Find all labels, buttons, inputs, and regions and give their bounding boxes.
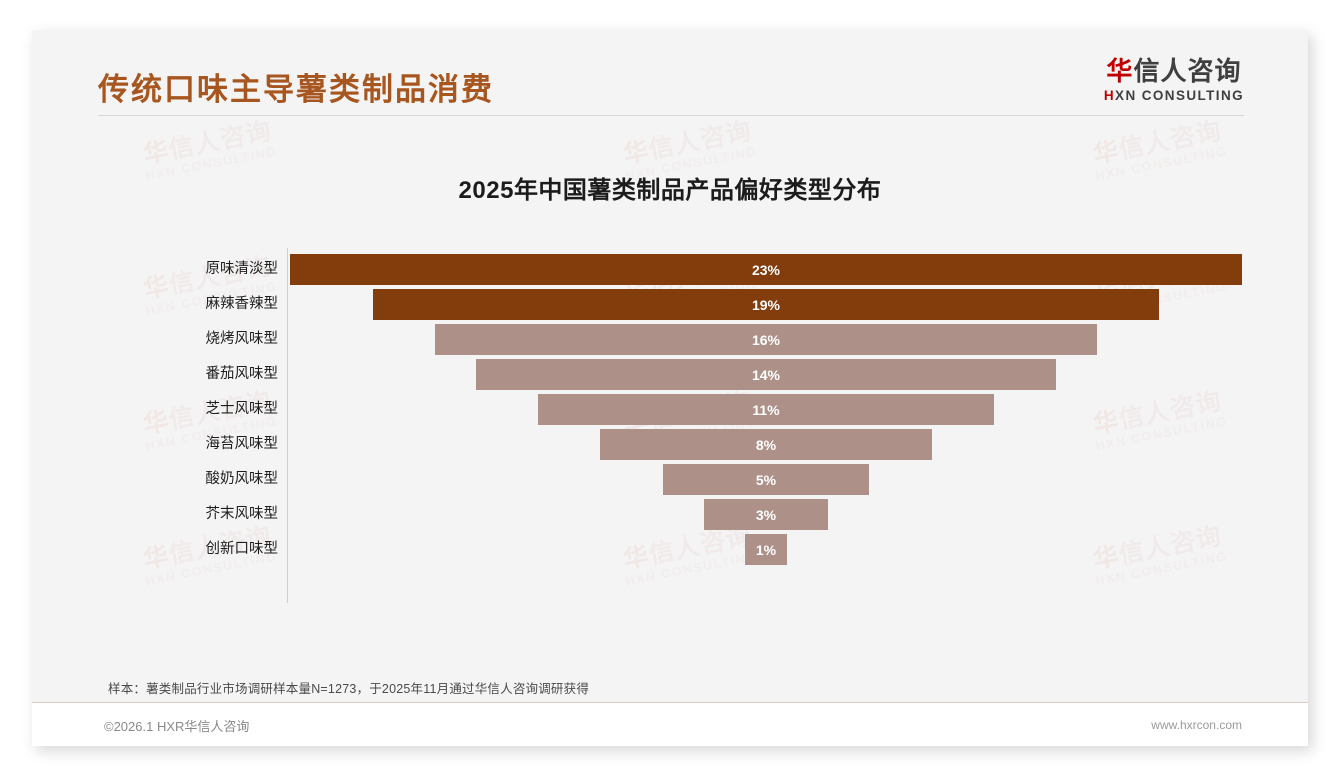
bar-value-label: 23% bbox=[752, 262, 780, 278]
bar-value-label: 16% bbox=[752, 332, 780, 348]
slide-root: 华信人咨询HXN CONSULTING华信人咨询HXN CONSULTING华信… bbox=[0, 0, 1340, 780]
bar-value-label: 19% bbox=[752, 297, 780, 313]
funnel-bar[interactable]: 8% bbox=[600, 429, 931, 460]
bar-track: 19% bbox=[290, 287, 1242, 322]
funnel-bar[interactable]: 16% bbox=[435, 324, 1097, 355]
category-label: 酸奶风味型 bbox=[182, 462, 278, 497]
funnel-row: 芝士风味型11% bbox=[182, 392, 1242, 427]
funnel-chart-plot: 原味清淡型23%麻辣香辣型19%烧烤风味型16%番茄风味型14%芝士风味型11%… bbox=[182, 248, 1242, 608]
category-label: 原味清淡型 bbox=[182, 252, 278, 287]
bar-value-label: 3% bbox=[756, 507, 776, 523]
copyright-text: ©2026.1 HXR华信人咨询 bbox=[104, 716, 249, 735]
funnel-row: 烧烤风味型16% bbox=[182, 322, 1242, 357]
category-label: 创新口味型 bbox=[182, 532, 278, 567]
bar-value-label: 11% bbox=[752, 402, 779, 418]
bar-track: 14% bbox=[290, 357, 1242, 392]
bar-track: 8% bbox=[290, 427, 1242, 462]
logo-chinese: 华信人咨询 bbox=[1104, 58, 1244, 84]
bar-value-label: 14% bbox=[752, 367, 780, 383]
funnel-row: 原味清淡型23% bbox=[182, 252, 1242, 287]
funnel-row: 芥末风味型3% bbox=[182, 497, 1242, 532]
funnel-bar[interactable]: 14% bbox=[476, 359, 1055, 390]
funnel-row: 番茄风味型14% bbox=[182, 357, 1242, 392]
logo-english-rest: XN CONSULTING bbox=[1115, 88, 1244, 103]
funnel-bar[interactable]: 23% bbox=[290, 254, 1242, 285]
category-label: 烧烤风味型 bbox=[182, 322, 278, 357]
website-url[interactable]: www.hxrcon.com bbox=[1151, 718, 1242, 732]
logo-chinese-rest: 信人咨询 bbox=[1133, 56, 1241, 86]
brand-logo: 华信人咨询 HXN CONSULTING bbox=[1104, 58, 1244, 103]
category-label: 番茄风味型 bbox=[182, 357, 278, 392]
bar-track: 1% bbox=[290, 532, 1242, 567]
title-divider bbox=[98, 115, 1244, 116]
bar-track: 3% bbox=[290, 497, 1242, 532]
category-label: 麻辣香辣型 bbox=[182, 287, 278, 322]
logo-english: HXN CONSULTING bbox=[1104, 89, 1244, 103]
source-note: 样本：薯类制品行业市场调研样本量N=1273，于2025年11月通过华信人咨询调… bbox=[108, 678, 589, 697]
bar-track: 16% bbox=[290, 322, 1242, 357]
slide-card: 华信人咨询HXN CONSULTING华信人咨询HXN CONSULTING华信… bbox=[32, 30, 1308, 746]
chart-area: 2025年中国薯类制品产品偏好类型分布 原味清淡型23%麻辣香辣型19%烧烤风味… bbox=[32, 140, 1308, 650]
page-title: 传统口味主导薯类制品消费 bbox=[98, 64, 494, 109]
bar-track: 5% bbox=[290, 462, 1242, 497]
funnel-row: 海苔风味型8% bbox=[182, 427, 1242, 462]
funnel-row: 创新口味型1% bbox=[182, 532, 1242, 567]
category-label: 芥末风味型 bbox=[182, 497, 278, 532]
category-label: 芝士风味型 bbox=[182, 392, 278, 427]
chart-title: 2025年中国薯类制品产品偏好类型分布 bbox=[32, 170, 1308, 205]
funnel-row: 酸奶风味型5% bbox=[182, 462, 1242, 497]
bar-value-label: 5% bbox=[756, 472, 776, 488]
bar-value-label: 8% bbox=[756, 437, 776, 453]
funnel-bar[interactable]: 5% bbox=[663, 464, 870, 495]
bar-value-label: 1% bbox=[756, 542, 776, 558]
funnel-bar[interactable]: 1% bbox=[745, 534, 786, 565]
logo-chinese-red: 华 bbox=[1106, 56, 1133, 86]
funnel-rows: 原味清淡型23%麻辣香辣型19%烧烤风味型16%番茄风味型14%芝士风味型11%… bbox=[182, 252, 1242, 567]
category-label: 海苔风味型 bbox=[182, 427, 278, 462]
funnel-bar[interactable]: 3% bbox=[704, 499, 828, 530]
slide-header: 传统口味主导薯类制品消费 华信人咨询 HXN CONSULTING bbox=[32, 30, 1308, 130]
funnel-bar[interactable]: 19% bbox=[373, 289, 1159, 320]
funnel-row: 麻辣香辣型19% bbox=[182, 287, 1242, 322]
bar-track: 11% bbox=[290, 392, 1242, 427]
logo-english-red: H bbox=[1104, 88, 1115, 103]
funnel-bar[interactable]: 11% bbox=[538, 394, 993, 425]
bar-track: 23% bbox=[290, 252, 1242, 287]
